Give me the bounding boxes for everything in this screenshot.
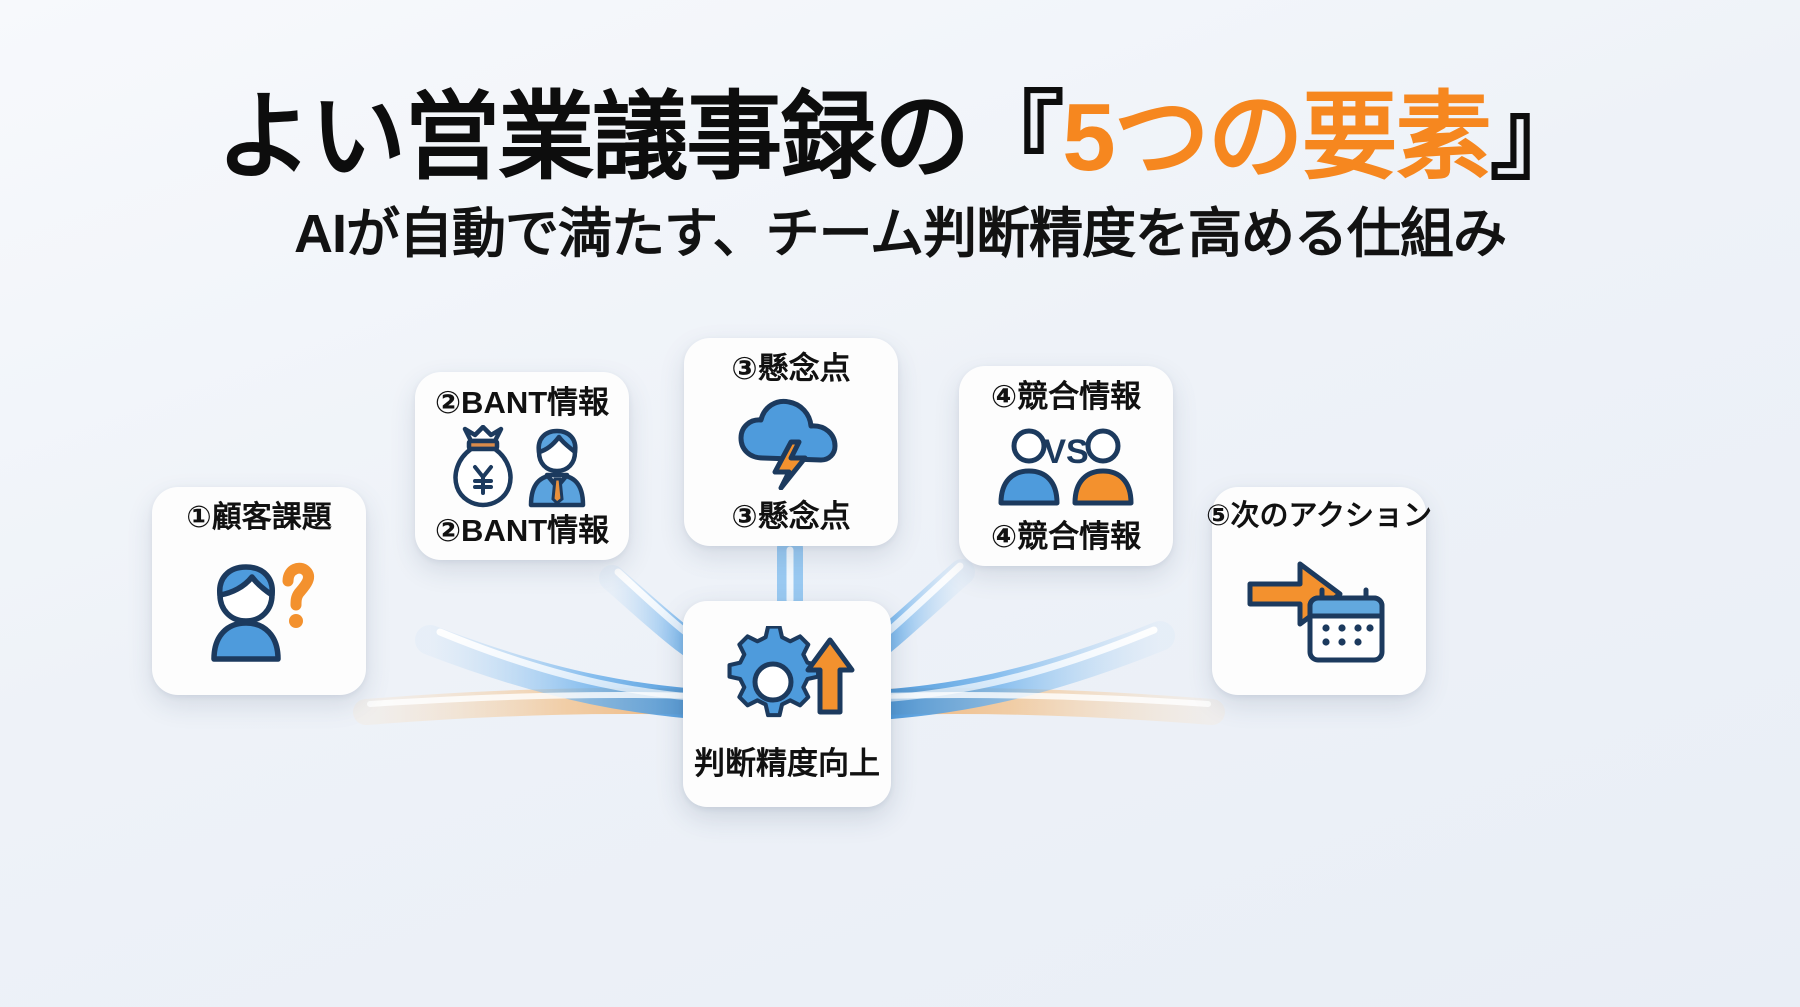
hub-node-decision-accuracy[interactable]: 判断精度向上 [683, 601, 891, 807]
card-label-3: ③懸念点 [731, 352, 850, 386]
storm-cloud-icon [694, 386, 888, 500]
card-label-2: ②BANT情報 [435, 386, 609, 420]
money-bag-businessman-icon [425, 420, 619, 514]
person-question-icon [162, 534, 356, 683]
element-card-competitor[interactable]: ④競合情報 VS ④競合情報 [959, 366, 1173, 566]
card-label-bottom-4: ④競合情報 [991, 520, 1141, 554]
page-title-suffix: 』 [1490, 84, 1584, 191]
gear-uparrow-icon [718, 626, 856, 734]
page-title: よい営業議事録の『5つの要素』 [0, 86, 1800, 190]
element-card-next-action[interactable]: ⑤次のアクション [1212, 487, 1426, 695]
card-label-5: ⑤次のアクション [1206, 501, 1432, 533]
element-card-concerns[interactable]: ③懸念点 ③懸念点 [684, 338, 898, 546]
page-title-accent: 5つの要素 [1062, 84, 1489, 191]
card-label-1: ①顧客課題 [186, 501, 331, 534]
page-subtitle: AIが自動で満たす、チーム判断精度を高める仕組み [0, 204, 1800, 264]
element-card-bant[interactable]: ②BANT情報 ②BANT情報 [415, 372, 629, 560]
versus-people-icon: VS [969, 414, 1163, 520]
arrow-calendar-icon [1222, 533, 1416, 683]
card-label-bottom-2: ②BANT情報 [435, 514, 609, 548]
card-label-bottom-3: ③懸念点 [731, 500, 850, 534]
page-title-prefix: よい営業議事録の『 [216, 84, 1062, 191]
card-label-4: ④競合情報 [991, 380, 1141, 414]
element-card-customer-issue[interactable]: ①顧客課題 [152, 487, 366, 695]
svg-text:VS: VS [1043, 433, 1088, 471]
hub-label: 判断精度向上 [694, 738, 880, 783]
title-block: よい営業議事録の『5つの要素』 AIが自動で満たす、チーム判断精度を高める仕組み [0, 86, 1800, 264]
